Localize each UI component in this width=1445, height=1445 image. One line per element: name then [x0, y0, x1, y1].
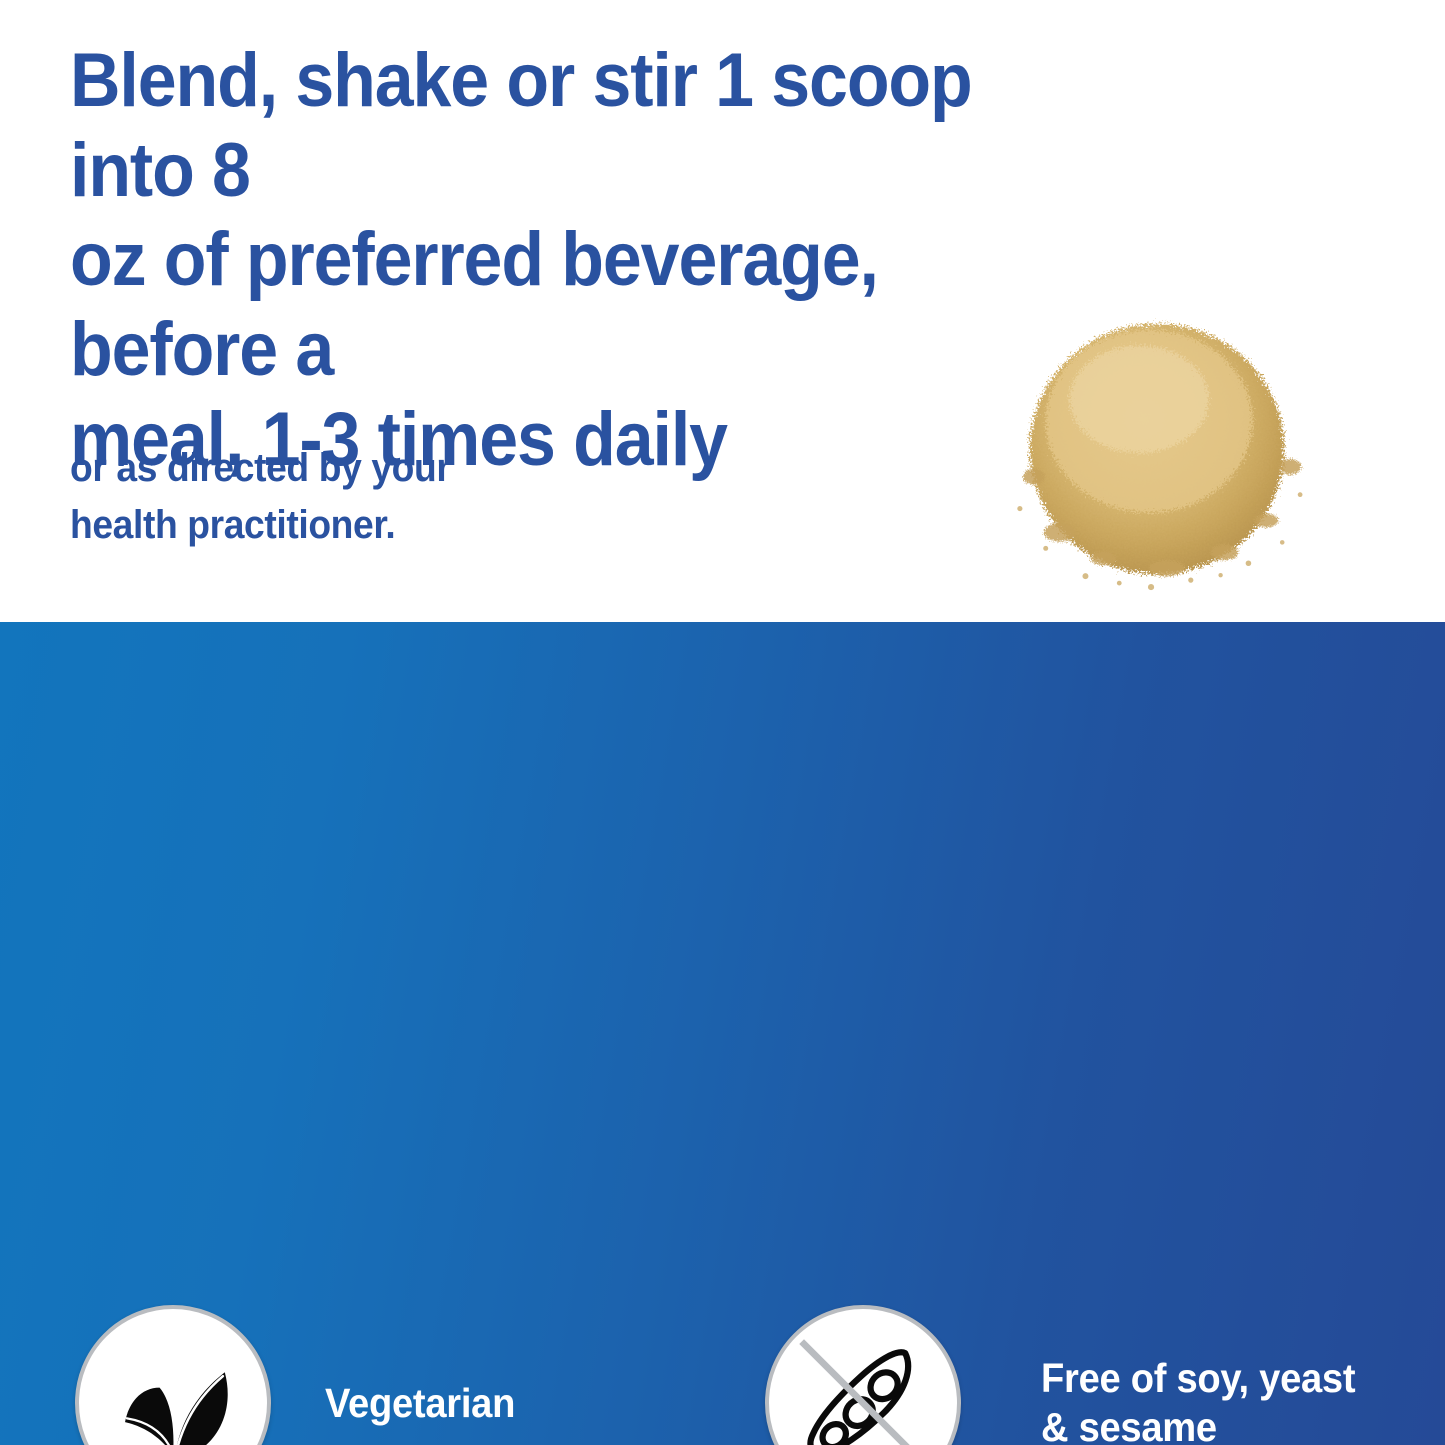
directions-headline: Blend, shake or stir 1 scoop into 8 oz o…: [70, 36, 990, 484]
badge-circle-free-of-soy: [765, 1305, 961, 1445]
badge-label-vegetarian: Vegetarian: [325, 1379, 515, 1428]
badge-circle-vegetarian: [75, 1305, 271, 1445]
powder-pile-image: [1000, 282, 1318, 600]
badge-free-of-soy: Free of soy, yeast & sesame: [765, 1305, 1379, 1445]
features-panel: Vegetarian Non-GMO: [0, 622, 1445, 1445]
directions-panel: Blend, shake or stir 1 scoop into 8 oz o…: [0, 0, 1445, 622]
badge-vegetarian: Vegetarian: [75, 1305, 529, 1445]
leaves-icon: [125, 1372, 228, 1445]
infographic-page: Blend, shake or stir 1 scoop into 8 oz o…: [0, 0, 1445, 1445]
directions-subline: or as directed by your health practition…: [70, 440, 591, 554]
badge-label-free-of-soy: Free of soy, yeast & sesame: [1041, 1354, 1355, 1445]
